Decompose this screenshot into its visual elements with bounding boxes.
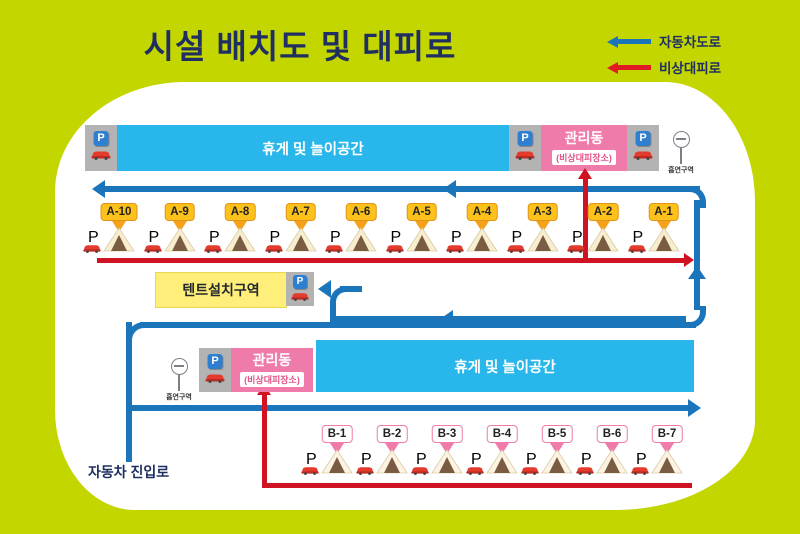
zone-admin-bottom: 관리동 (비상대피장소) — [231, 348, 313, 392]
tent-icon — [344, 227, 378, 253]
car-icon — [566, 243, 586, 253]
campsite-a-3[interactable]: A-3P — [516, 203, 570, 255]
road-top-horizontal — [105, 186, 700, 192]
arrow-left-icon — [607, 36, 651, 46]
car-icon — [204, 372, 226, 383]
arrow-left-icon — [318, 280, 331, 298]
legend-label-evacuation-route: 비상대피로 — [659, 57, 721, 77]
road-lower-upper-horizontal — [140, 322, 696, 328]
diagram-canvas: 시설 배치도 및 대피로 자동차도로 비상대피로 P 휴게 및 놀이공간 P — [0, 0, 800, 534]
parking-icon: P — [94, 131, 109, 146]
car-icon — [324, 243, 344, 253]
campsite-label: A-5 — [406, 203, 437, 221]
smoking-area-label: 흡연구역 — [160, 392, 198, 402]
campsite-label: A-1 — [648, 203, 679, 221]
parking-icon: P — [208, 354, 223, 369]
parking-block-tent: P — [286, 272, 314, 306]
evacuation-branch-to-admin-bottom — [262, 392, 267, 488]
parking-block-top-right: P — [627, 125, 659, 171]
car-icon — [90, 149, 112, 160]
car-icon — [82, 243, 102, 253]
zone-rest-play-bottom: 휴게 및 놀이공간 — [316, 340, 694, 392]
zone-rest-play-top: 휴게 및 놀이공간 — [117, 125, 509, 171]
tent-icon — [595, 449, 629, 475]
no-smoking-icon — [673, 131, 690, 148]
legend-item-car-road: 자동차도로 — [607, 30, 792, 52]
arrow-left-icon — [443, 180, 456, 198]
campsite-label: A-10 — [101, 203, 138, 221]
entrance-label: 자동차 진입로 — [88, 462, 169, 482]
tent-icon — [650, 449, 684, 475]
car-icon — [575, 465, 595, 475]
campsite-label: A-3 — [527, 203, 558, 221]
arrow-right-icon — [684, 253, 694, 267]
arrow-left-icon — [92, 180, 105, 198]
tent-icon — [284, 227, 318, 253]
campsite-label: B-4 — [487, 425, 518, 443]
parking-block-bottom: P — [199, 348, 231, 392]
zone-subtitle: (비상대피장소) — [240, 372, 304, 387]
evacuation-line-upper — [97, 258, 689, 263]
campsite-label: A-9 — [164, 203, 195, 221]
campsite-a-9[interactable]: A-9P — [153, 203, 207, 255]
car-icon — [632, 149, 654, 160]
car-icon — [630, 465, 650, 475]
tent-icon — [405, 227, 439, 253]
tent-icon — [163, 227, 197, 253]
campsite-label: A-8 — [225, 203, 256, 221]
tent-icon — [540, 449, 574, 475]
car-icon — [627, 243, 647, 253]
campsite-a-6[interactable]: A-6P — [334, 203, 388, 255]
car-icon — [445, 243, 465, 253]
campsite-a-5[interactable]: A-5P — [395, 203, 449, 255]
car-icon — [385, 243, 405, 253]
campsite-a-2[interactable]: A-2P — [576, 203, 630, 255]
zone-label: 휴게 및 놀이공간 — [262, 138, 363, 159]
zone-title: 관리동 — [253, 353, 292, 368]
campsite-label: B-7 — [652, 425, 683, 443]
campsite-label: B-6 — [597, 425, 628, 443]
zone-title: 관리동 — [565, 131, 604, 146]
legend: 자동차도로 비상대피로 — [607, 30, 792, 82]
campsite-label: B-2 — [377, 425, 408, 443]
tent-icon — [647, 227, 681, 253]
car-icon — [300, 465, 320, 475]
campsite-b-7[interactable]: B-7P — [640, 425, 694, 477]
campsite-label: B-1 — [322, 425, 353, 443]
car-icon — [264, 243, 284, 253]
parking-icon: P — [636, 131, 651, 146]
smoking-area-sign-bottom: 흡연구역 — [160, 358, 198, 402]
zone-label: 휴게 및 놀이공간 — [454, 356, 555, 377]
car-icon — [355, 465, 375, 475]
car-icon — [506, 243, 526, 253]
tent-icon — [485, 449, 519, 475]
parking-block-top-left: P — [85, 125, 117, 171]
road-tent-spur — [340, 286, 362, 292]
tent-icon — [586, 227, 620, 253]
road-right-vertical — [694, 200, 700, 310]
car-icon — [520, 465, 540, 475]
campsite-label: B-5 — [542, 425, 573, 443]
campsite-a-1[interactable]: A-1P — [637, 203, 691, 255]
car-icon — [203, 243, 223, 253]
campsite-a-7[interactable]: A-7P — [274, 203, 328, 255]
car-icon — [410, 465, 430, 475]
page-title: 시설 배치도 및 대피로 — [0, 20, 600, 68]
arrow-up-icon — [578, 168, 592, 179]
car-icon — [143, 243, 163, 253]
parking-icon: P — [293, 275, 307, 289]
zone-tent-setup: 텐트설치구역 — [155, 272, 287, 308]
tent-icon — [102, 227, 136, 253]
tent-icon — [465, 227, 499, 253]
parking-block-top-mid: P — [509, 125, 541, 171]
campsite-label: A-6 — [346, 203, 377, 221]
campsite-a-8[interactable]: A-8P — [213, 203, 267, 255]
smoking-area-sign-top: 흡연구역 — [662, 131, 700, 175]
campsite-a-4[interactable]: A-4P — [455, 203, 509, 255]
car-icon — [514, 149, 536, 160]
zone-subtitle: (비상대피장소) — [552, 150, 616, 165]
parking-icon: P — [518, 131, 533, 146]
arrow-up-icon — [688, 266, 706, 279]
arrow-right-icon — [688, 399, 701, 417]
evacuation-line-lower — [262, 483, 692, 488]
legend-item-evacuation-route: 비상대피로 — [607, 56, 792, 78]
tent-icon — [375, 449, 409, 475]
road-bottom-horizontal — [132, 405, 692, 411]
zone-label: 텐트설치구역 — [182, 280, 259, 300]
car-icon — [465, 465, 485, 475]
car-icon — [290, 291, 310, 301]
tent-icon — [320, 449, 354, 475]
campsite-label: A-4 — [467, 203, 498, 221]
campsite-a-10[interactable]: A-10P — [92, 203, 146, 255]
campsite-label: B-3 — [432, 425, 463, 443]
tent-icon — [526, 227, 560, 253]
tent-icon — [223, 227, 257, 253]
tent-icon — [430, 449, 464, 475]
campsite-label: A-2 — [588, 203, 619, 221]
zone-admin-top: 관리동 (비상대피장소) — [541, 125, 627, 171]
legend-label-car-road: 자동차도로 — [659, 31, 721, 51]
no-smoking-icon — [171, 358, 188, 375]
campsite-label: A-7 — [285, 203, 316, 221]
arrow-left-icon — [607, 62, 651, 72]
smoking-area-label: 흡연구역 — [662, 165, 700, 175]
